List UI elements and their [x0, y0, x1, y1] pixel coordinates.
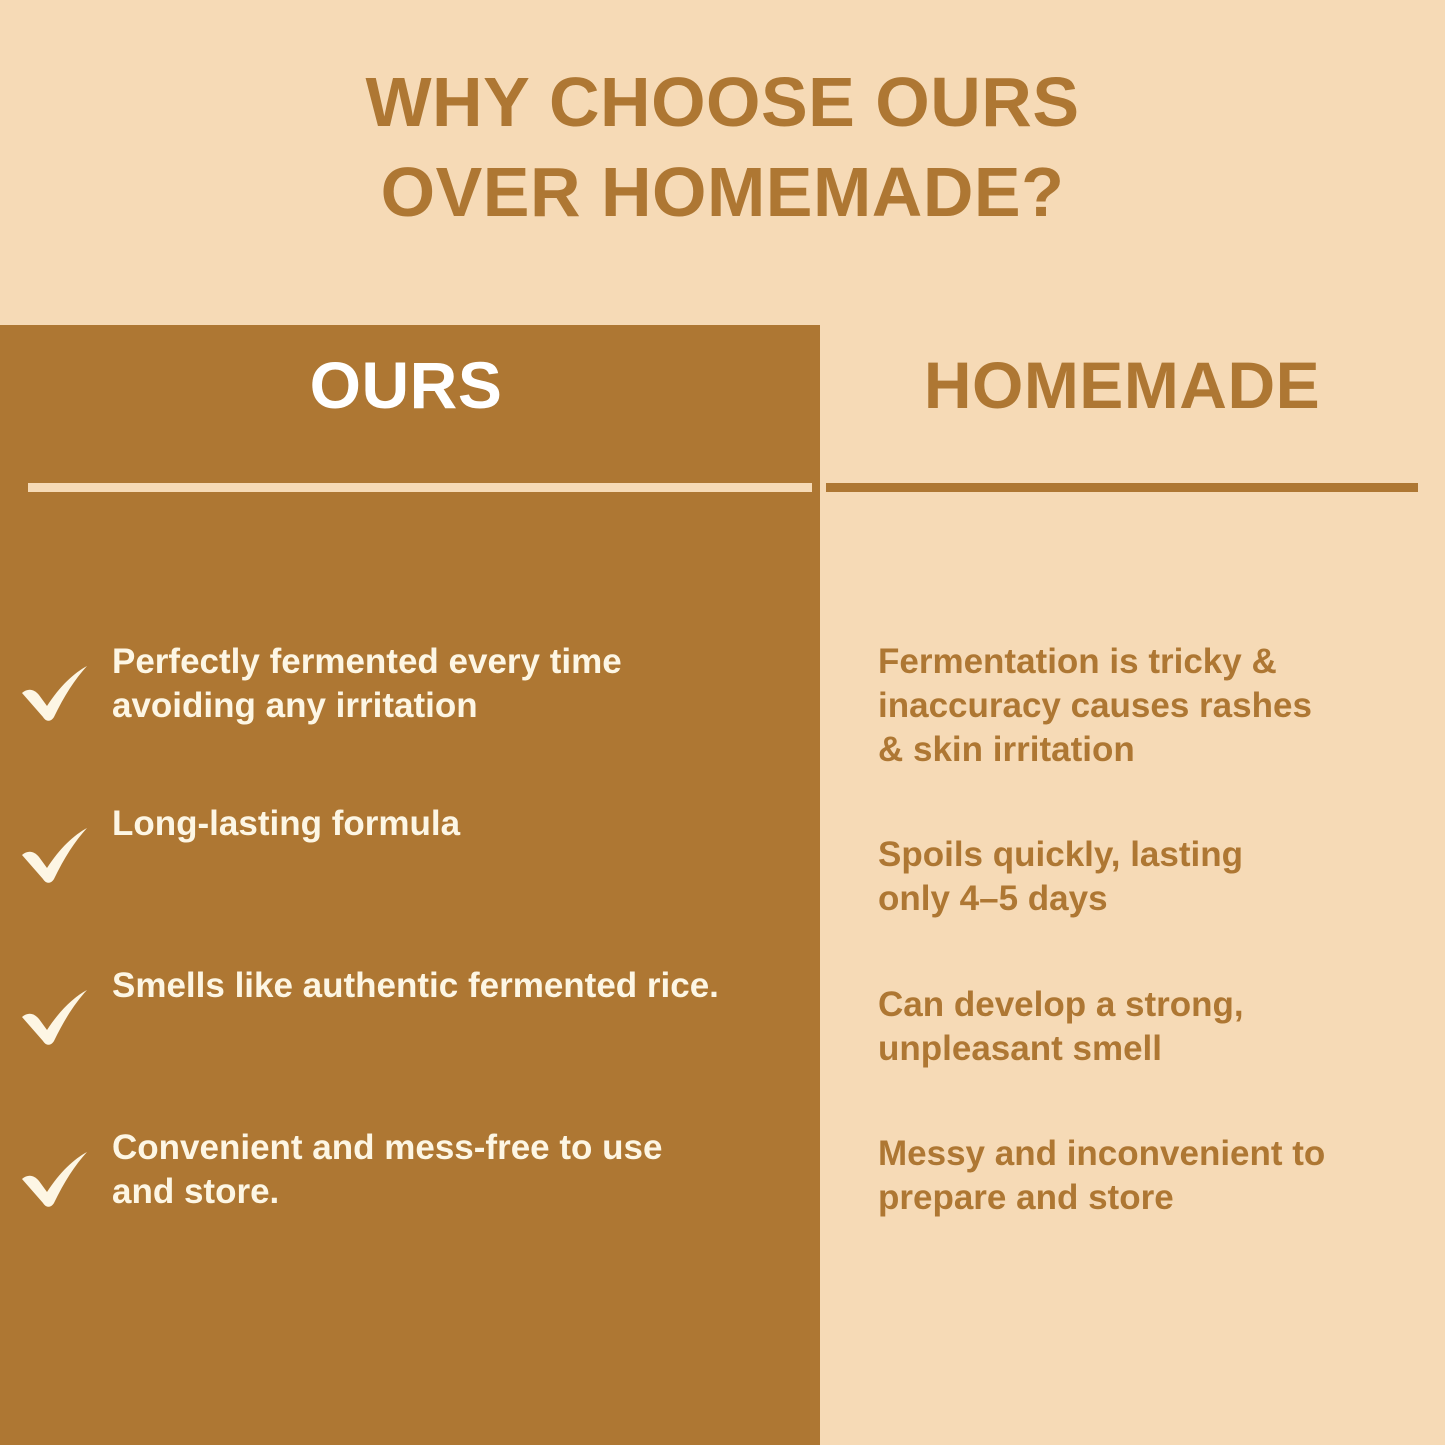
- checkmark-icon: [18, 981, 90, 1047]
- list-item: Fermentation is tricky & inaccuracy caus…: [878, 640, 1418, 771]
- title-line-2: OVER HOMEMADE?: [0, 148, 1445, 238]
- homemade-header-rule: [826, 483, 1418, 492]
- list-item-label: Spoils quickly, lasting only 4–5 days: [878, 835, 1243, 918]
- checkmark-icon: [18, 1143, 90, 1209]
- list-item: Smells like authentic fermented rice.: [0, 964, 812, 1064]
- column-header-ours: OURS: [0, 352, 812, 418]
- list-item-label: Messy and inconvenient to prepare and st…: [878, 1134, 1325, 1217]
- list-item-label: Fermentation is tricky & inaccuracy caus…: [878, 642, 1312, 769]
- list-item-label: Long-lasting formula: [112, 804, 460, 843]
- ours-item-list: Perfectly fermented every time avoiding …: [0, 640, 812, 1288]
- page-title: WHY CHOOSE OURS OVER HOMEMADE?: [0, 58, 1445, 237]
- list-item-label: Convenient and mess-free to use and stor…: [112, 1128, 662, 1211]
- comparison-infographic: WHY CHOOSE OURS OVER HOMEMADE? OURS HOME…: [0, 0, 1445, 1445]
- title-line-1: WHY CHOOSE OURS: [0, 58, 1445, 148]
- ours-header-rule: [28, 483, 812, 492]
- list-item: Convenient and mess-free to use and stor…: [0, 1126, 812, 1226]
- list-item: Perfectly fermented every time avoiding …: [0, 640, 812, 740]
- checkmark-icon: [18, 657, 90, 723]
- column-header-homemade: HOMEMADE: [826, 352, 1418, 418]
- checkmark-icon: [18, 819, 90, 885]
- list-item: Messy and inconvenient to prepare and st…: [878, 1132, 1418, 1220]
- homemade-item-list: Fermentation is tricky & inaccuracy caus…: [878, 640, 1418, 1282]
- list-item: Long-lasting formula: [0, 802, 812, 902]
- list-item-label: Perfectly fermented every time avoiding …: [112, 642, 622, 725]
- list-item-label: Smells like authentic fermented rice.: [112, 966, 719, 1005]
- list-item-label: Can develop a strong, unpleasant smell: [878, 985, 1244, 1068]
- list-item: Can develop a strong, unpleasant smell: [878, 983, 1418, 1071]
- list-item: Spoils quickly, lasting only 4–5 days: [878, 833, 1418, 921]
